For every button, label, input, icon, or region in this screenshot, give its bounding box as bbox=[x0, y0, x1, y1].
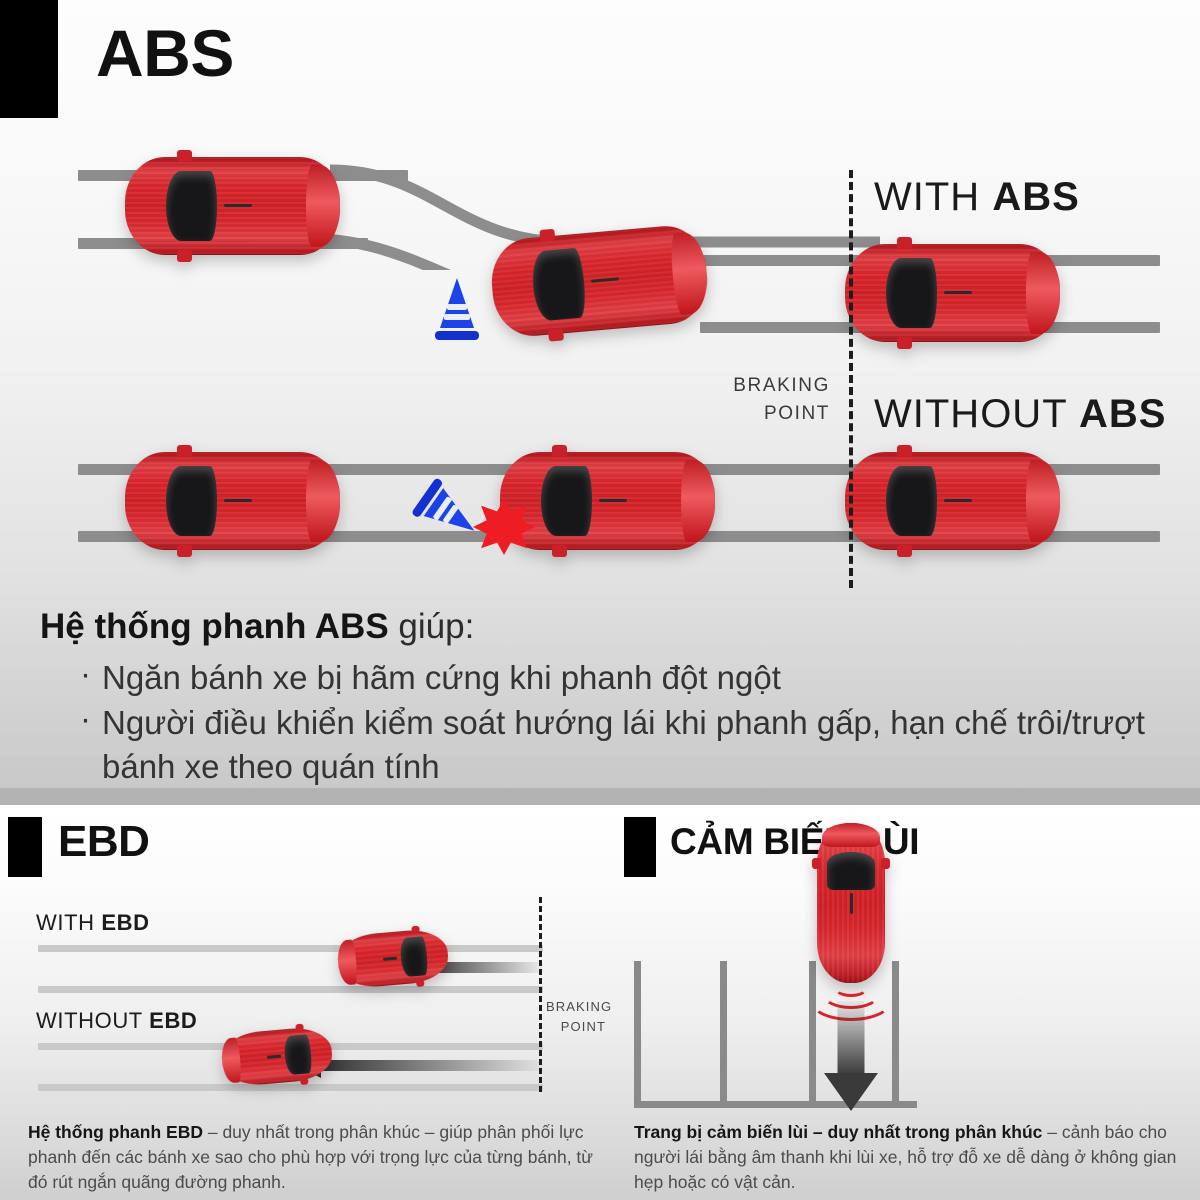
car-mirror bbox=[300, 1078, 308, 1085]
abs-car-without-collision bbox=[500, 452, 715, 550]
car-mirror bbox=[177, 250, 192, 262]
car-mirror bbox=[812, 858, 821, 869]
sensor-header-accent-bar bbox=[624, 817, 656, 877]
abs-label-without-strong: ABS bbox=[1079, 392, 1166, 436]
abs-description: Hệ thống phanh ABS giúp: Ngăn bánh xe bị… bbox=[40, 604, 1190, 788]
ebd-caption: Hệ thống phanh EBD – duy nhất trong phân… bbox=[28, 1120, 594, 1195]
ebd-caption-strong: Hệ thống phanh EBD bbox=[28, 1122, 203, 1142]
abs-braking-point-label: BRAKING POINT bbox=[640, 372, 830, 427]
braking-point-line1: BRAKING bbox=[640, 372, 830, 400]
ebd-label-without-strong: EBD bbox=[149, 1008, 197, 1033]
traffic-cone-upright bbox=[432, 278, 482, 340]
arrow-head bbox=[824, 1073, 878, 1111]
abs-car-with-swerve bbox=[488, 223, 711, 339]
car-windshield bbox=[283, 1035, 313, 1075]
ebd-label-with: WITH EBD bbox=[36, 910, 150, 936]
section-separator-band bbox=[0, 788, 1200, 805]
car-mirror bbox=[539, 229, 555, 242]
car-roof-detail bbox=[224, 204, 252, 207]
car-windshield bbox=[166, 466, 218, 537]
car-mirror bbox=[177, 445, 192, 457]
car-nose bbox=[681, 460, 715, 542]
abs-title: ABS bbox=[96, 20, 234, 86]
parking-bay-divider bbox=[720, 961, 727, 1106]
list-item: Ngăn bánh xe bị hãm cứng khi phanh đột n… bbox=[40, 656, 1190, 700]
car-mirror bbox=[552, 545, 567, 557]
car-nose bbox=[822, 823, 879, 847]
car-roof-detail bbox=[944, 499, 972, 502]
abs-section: ABS bbox=[0, 0, 1200, 788]
sensor-caption: Trang bị cảm biến lùi – duy nhất trong p… bbox=[634, 1120, 1186, 1195]
reverse-sensor-section: CẢM BIẾN LÙI Trang bị cảm biến lùi – duy… bbox=[612, 805, 1200, 1200]
abs-car-with-start bbox=[125, 157, 340, 255]
impact-burst-icon bbox=[473, 499, 535, 555]
cone-stripe bbox=[447, 304, 467, 310]
car-mirror bbox=[411, 926, 419, 933]
arrow-shaft bbox=[838, 1001, 865, 1075]
sensor-reverse-direction-arrow bbox=[824, 1001, 878, 1111]
car-roof-detail bbox=[224, 499, 252, 502]
ebd-label-with-strong: EBD bbox=[101, 910, 149, 935]
car-roof-detail bbox=[850, 893, 853, 914]
car-windshield bbox=[886, 258, 938, 329]
infographic-page: ABS bbox=[0, 0, 1200, 1200]
car-mirror bbox=[177, 150, 192, 162]
abs-car-without-end bbox=[845, 452, 1060, 550]
car-mirror bbox=[881, 858, 890, 869]
car-mirror bbox=[295, 1024, 303, 1031]
abs-label-without: WITHOUT ABS bbox=[874, 392, 1166, 437]
sensor-caption-strong: Trang bị cảm biến lùi – duy nhất trong p… bbox=[634, 1122, 1042, 1142]
car-mirror bbox=[897, 337, 912, 349]
sensor-car-reversing bbox=[817, 823, 885, 983]
ebd-car-with bbox=[336, 927, 450, 989]
car-mirror bbox=[548, 329, 564, 342]
car-mirror bbox=[416, 980, 424, 987]
abs-label-with-text: WITH bbox=[874, 175, 992, 219]
car-mirror bbox=[897, 237, 912, 249]
abs-description-lead-strong: Hệ thống phanh ABS bbox=[40, 607, 389, 646]
car-windshield bbox=[541, 466, 593, 537]
ebd-braking-point-line bbox=[539, 897, 542, 1092]
abs-description-lead-rest: giúp: bbox=[389, 607, 475, 646]
car-windshield bbox=[827, 852, 876, 890]
cone-stripe bbox=[444, 314, 470, 320]
abs-label-with: WITH ABS bbox=[874, 175, 1080, 220]
cone-base bbox=[435, 331, 479, 340]
abs-header-accent-bar bbox=[0, 0, 58, 118]
braking-point-line2: POINT bbox=[546, 1017, 606, 1037]
car-nose bbox=[1026, 460, 1060, 542]
braking-point-line1: BRAKING bbox=[546, 997, 606, 1017]
list-item: Người điều khiển kiểm soát hướng lái khi… bbox=[40, 701, 1190, 788]
ebd-road-line-with-upper bbox=[38, 945, 543, 952]
car-nose bbox=[306, 460, 340, 542]
abs-bullet-list: Ngăn bánh xe bị hãm cứng khi phanh đột n… bbox=[40, 656, 1190, 789]
car-nose bbox=[306, 165, 340, 247]
abs-description-lead: Hệ thống phanh ABS giúp: bbox=[40, 604, 1190, 650]
abs-car-with-stopped bbox=[845, 244, 1060, 342]
abs-car-without-start bbox=[125, 452, 340, 550]
braking-point-line2: POINT bbox=[640, 400, 830, 428]
ebd-title: EBD bbox=[58, 820, 149, 864]
parking-bay-divider bbox=[634, 961, 641, 1106]
ebd-road-line-without-lower bbox=[38, 1084, 543, 1091]
ebd-section: EBD WITH EBD WITHOUT EBD bbox=[0, 805, 612, 1200]
car-windshield bbox=[166, 171, 218, 242]
abs-braking-point-line bbox=[849, 170, 853, 588]
ebd-braking-point-label: BRAKING POINT bbox=[546, 997, 606, 1036]
ebd-label-without-text: WITHOUT bbox=[36, 1008, 149, 1033]
ebd-label-with-text: WITH bbox=[36, 910, 101, 935]
cone-body bbox=[440, 278, 474, 328]
ebd-header-accent-bar bbox=[8, 817, 42, 877]
car-windshield bbox=[399, 937, 429, 977]
car-mirror bbox=[177, 545, 192, 557]
car-windshield bbox=[886, 466, 938, 537]
car-mirror bbox=[552, 445, 567, 457]
ebd-road-line-with-lower bbox=[38, 986, 543, 993]
car-mirror bbox=[897, 545, 912, 557]
car-roof-detail bbox=[599, 499, 627, 502]
abs-label-without-text: WITHOUT bbox=[874, 392, 1079, 436]
abs-label-with-strong: ABS bbox=[992, 175, 1079, 219]
ebd-car-without bbox=[220, 1025, 334, 1087]
car-nose bbox=[1026, 252, 1060, 334]
ebd-label-without: WITHOUT EBD bbox=[36, 1008, 197, 1034]
car-roof-detail bbox=[944, 291, 972, 294]
arrow-tail bbox=[317, 1060, 543, 1071]
car-mirror bbox=[897, 445, 912, 457]
